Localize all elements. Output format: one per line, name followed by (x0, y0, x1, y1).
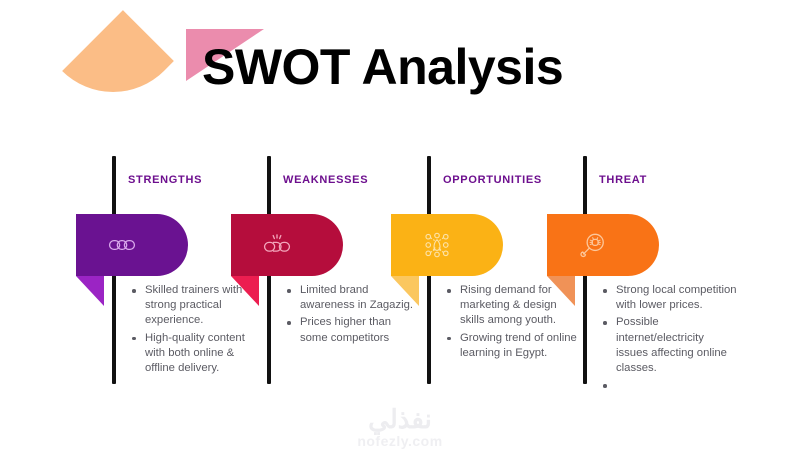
swot-column-threat: THREAT Strong local competition with low… (583, 152, 743, 392)
watermark: نفذلي nofezly.com (0, 406, 800, 448)
chain-link-icon (108, 231, 136, 259)
watermark-arabic: نفذلي (0, 406, 800, 432)
banner-tail (231, 276, 259, 306)
broken-chain-icon (263, 231, 291, 259)
decorative-quarter-circle (62, 10, 174, 122)
list-item: Growing trend of online learning in Egyp… (447, 331, 581, 361)
network-rocket-icon (423, 231, 451, 259)
column-heading-threat: THREAT (599, 174, 647, 186)
swot-analysis-canvas: SWOT Analysis STRENGTHS Skilled trainers… (0, 0, 800, 460)
swot-columns: STRENGTHS Skilled trainers with strong p… (0, 152, 800, 392)
banner-tail (391, 276, 419, 306)
list-item: High-quality content with both online & … (132, 331, 266, 377)
column-heading-weaknesses: WEAKNESSES (283, 174, 368, 186)
list-item: Prices higher than some competitors (287, 315, 421, 345)
magnifier-bug-icon (579, 231, 607, 259)
column-heading-opportunities: OPPORTUNITIES (443, 174, 542, 186)
banner-tail (76, 276, 104, 306)
watermark-domain: nofezly.com (0, 434, 800, 448)
list-item (603, 378, 737, 392)
list-item: Possible internet/electricity issues aff… (603, 315, 737, 376)
list-item: Strong local competition with lower pric… (603, 283, 737, 313)
column-heading-strengths: STRENGTHS (128, 174, 202, 186)
banner-tail (547, 276, 575, 306)
bullet-list-threat: Strong local competition with lower pric… (603, 283, 737, 394)
page-title: SWOT Analysis (202, 40, 563, 95)
